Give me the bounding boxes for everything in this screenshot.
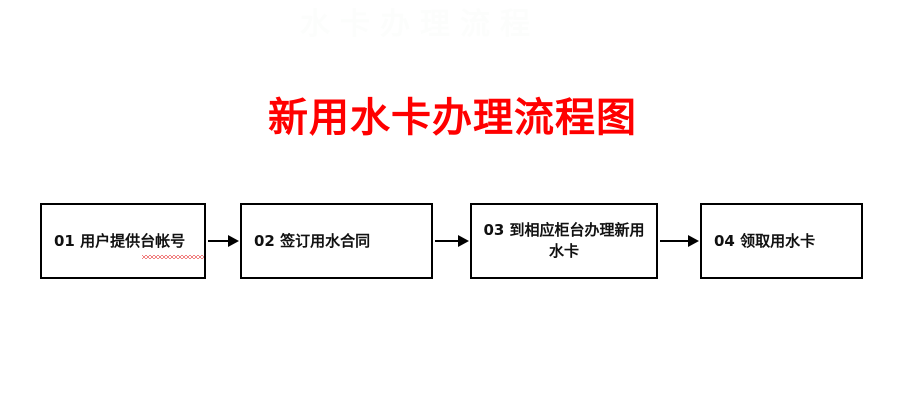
flowchart-canvas: 水卡办理流程 新用水卡办理流程图 01 用户提供台帐号 02 签订用水合同 03… (0, 0, 905, 406)
flow-node-03-label: 03 到相应柜台办理新用 水卡 (472, 220, 656, 262)
page-title: 新用水卡办理流程图 (0, 93, 905, 143)
flow-node-02[interactable]: 02 签订用水合同 (240, 203, 433, 279)
arrow-shaft (435, 240, 458, 242)
spellcheck-underline-icon (142, 255, 204, 259)
flow-arrow-03-04-icon (660, 233, 699, 249)
flow-arrow-02-03-icon (435, 233, 469, 249)
watermark-text: 水卡办理流程 (300, 2, 630, 48)
flow-node-01-label: 01 用户提供台帐号 (42, 231, 204, 252)
flow-node-01[interactable]: 01 用户提供台帐号 (40, 203, 206, 279)
flow-node-04[interactable]: 04 领取用水卡 (700, 203, 863, 279)
arrow-shaft (660, 240, 688, 242)
arrow-head (228, 235, 239, 247)
flowchart-diagram: 01 用户提供台帐号 02 签订用水合同 03 到相应柜台办理新用 水卡 (0, 203, 905, 281)
arrow-head (458, 235, 469, 247)
flow-node-03[interactable]: 03 到相应柜台办理新用 水卡 (470, 203, 658, 279)
arrow-head (688, 235, 699, 247)
flow-node-04-label: 04 领取用水卡 (702, 231, 861, 252)
flow-node-02-label: 02 签订用水合同 (242, 231, 431, 252)
arrow-shaft (208, 240, 228, 242)
flow-arrow-01-02-icon (208, 233, 239, 249)
